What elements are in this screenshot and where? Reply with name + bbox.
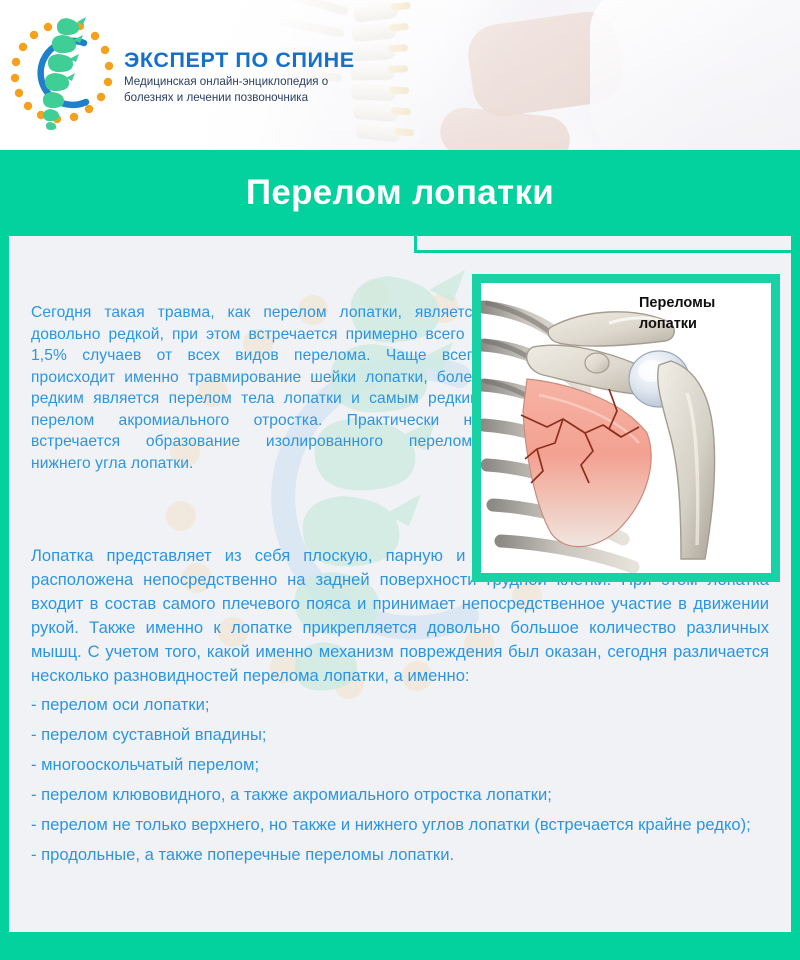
list-item: - перелом не только верхнего, но также и… bbox=[31, 813, 769, 837]
list-item: - перелом клювовидного, а также акромиал… bbox=[31, 783, 769, 807]
title-accent-outline bbox=[414, 231, 800, 253]
paragraph-intro: Сегодня такая травма, как перелом лопатк… bbox=[31, 302, 481, 474]
brand-tagline: Медицинская онлайн-энциклопедия о болезн… bbox=[124, 74, 355, 105]
brand-title: ЭКСПЕРТ ПО СПИНЕ bbox=[124, 49, 355, 72]
list-item: - перелом оси лопатки; bbox=[31, 693, 769, 717]
fracture-types-list: - перелом оси лопатки; - перелом суставн… bbox=[31, 693, 769, 866]
site-header: ЭКСПЕРТ ПО СПИНЕ Медицинская онлайн-энци… bbox=[0, 0, 800, 150]
scapula-fracture-figure: Переломы лопатки bbox=[472, 274, 780, 582]
figure-caption: Переломы лопатки bbox=[639, 293, 757, 335]
title-band: Перелом лопатки bbox=[0, 150, 800, 236]
spine-logo-icon bbox=[10, 16, 116, 132]
list-item: - продольные, а также поперечные перелом… bbox=[31, 843, 769, 867]
page-root: ЭКСПЕРТ ПО СПИНЕ Медицинская онлайн-энци… bbox=[0, 0, 800, 960]
list-item: - многооскольчатый перелом; bbox=[31, 753, 769, 777]
site-logo[interactable]: ЭКСПЕРТ ПО СПИНЕ Медицинская онлайн-энци… bbox=[10, 14, 350, 134]
footer-band bbox=[0, 932, 800, 960]
page-title: Перелом лопатки bbox=[246, 173, 554, 213]
logo-text-block: ЭКСПЕРТ ПО СПИНЕ Медицинская онлайн-энци… bbox=[124, 43, 355, 105]
list-item: - перелом суставной впадины; bbox=[31, 723, 769, 747]
article-body: Сегодня такая травма, как перелом лопатк… bbox=[0, 236, 800, 932]
